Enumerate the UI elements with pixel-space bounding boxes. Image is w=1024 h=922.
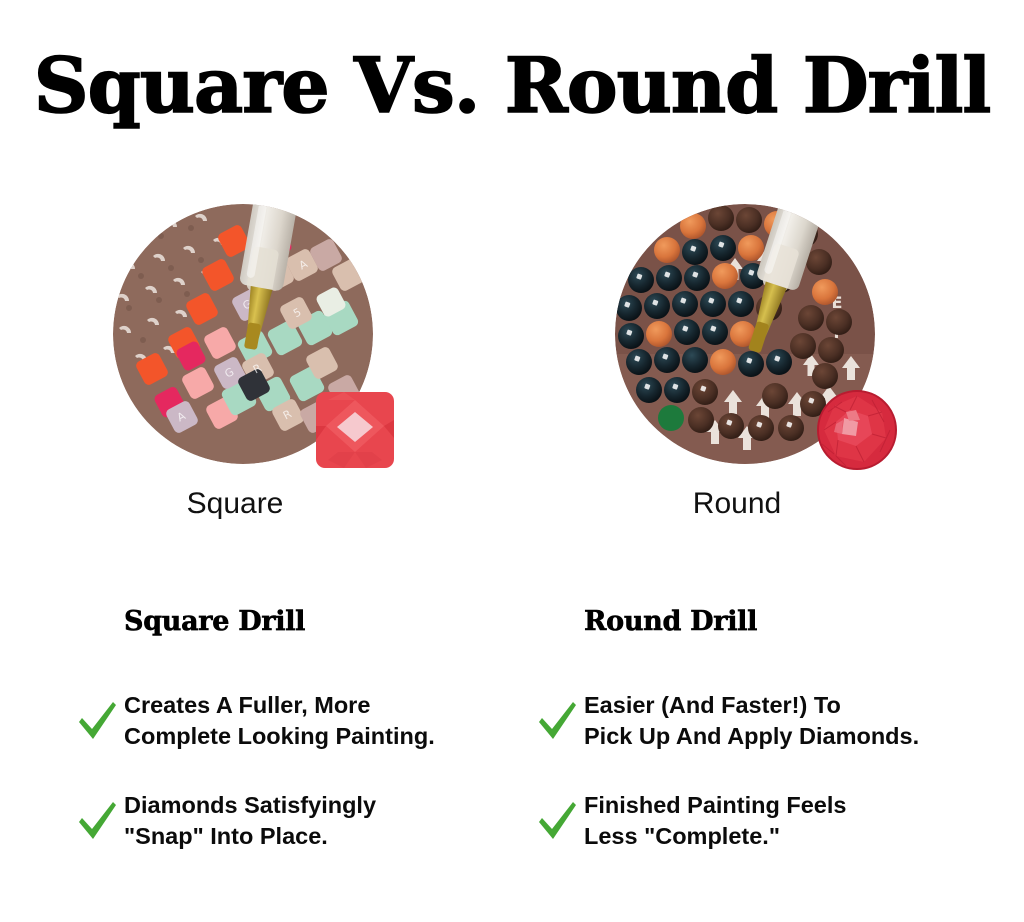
- page-title: Square Vs. Round Drill: [0, 48, 1024, 124]
- round-drill-heading: Round Drill: [584, 608, 1024, 636]
- list-item: Finished Painting Feels Less "Complete.": [584, 790, 1024, 852]
- round-drill-bullet-list: Easier (And Faster!) To Pick Up And Appl…: [584, 690, 1024, 852]
- square-drill-column: Square Drill Creates A Fuller, More Comp…: [124, 608, 564, 890]
- square-drill-bullet-list: Creates A Fuller, More Complete Looking …: [124, 690, 564, 852]
- check-icon: [536, 799, 578, 843]
- list-item-text: Diamonds Satisfyingly "Snap" Into Place.: [124, 790, 376, 852]
- round-drill-panel: E F: [610, 204, 950, 494]
- square-shape-caption: Square: [100, 487, 370, 521]
- list-item-text: Creates A Fuller, More Complete Looking …: [124, 690, 435, 752]
- infographic-page: Square Vs. Round Drill: [0, 0, 1024, 922]
- check-icon: [76, 699, 118, 743]
- list-item: Easier (And Faster!) To Pick Up And Appl…: [584, 690, 1024, 752]
- square-drill-heading: Square Drill: [124, 608, 564, 636]
- round-drill-column: Round Drill Easier (And Faster!) To Pick…: [584, 608, 1024, 890]
- check-icon: [536, 699, 578, 743]
- list-item-text: Finished Painting Feels Less "Complete.": [584, 790, 846, 852]
- list-item: Creates A Fuller, More Complete Looking …: [124, 690, 564, 752]
- list-item-text: Easier (And Faster!) To Pick Up And Appl…: [584, 690, 919, 752]
- square-gem-icon: [314, 390, 396, 470]
- round-shape-caption: Round: [602, 487, 872, 521]
- round-gem-icon: [816, 390, 898, 470]
- list-item: Diamonds Satisfyingly "Snap" Into Place.: [124, 790, 564, 852]
- check-icon: [76, 799, 118, 843]
- square-drill-panel: 5 A 5 R G R A G: [108, 204, 448, 494]
